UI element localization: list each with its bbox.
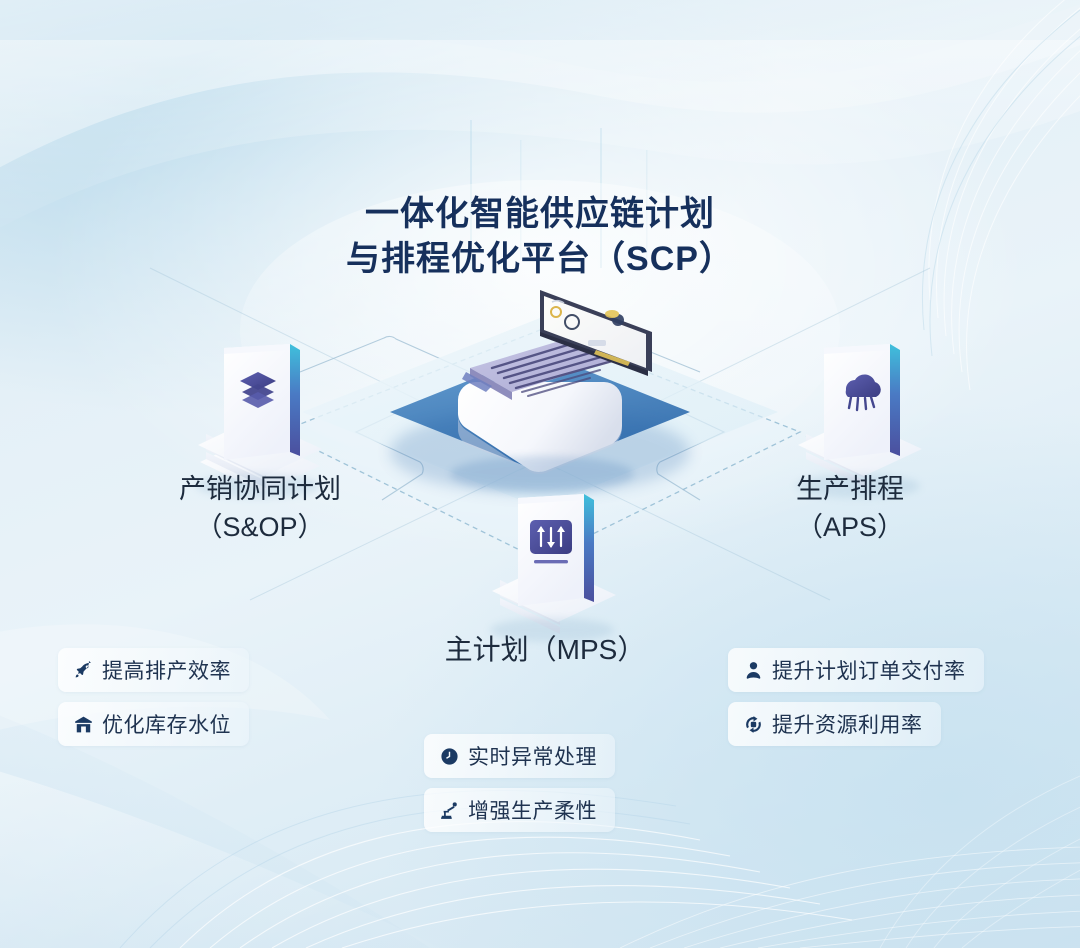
rocket-icon	[73, 660, 93, 680]
recycle-icon	[743, 714, 763, 734]
node-label-sop: 产销协同计划 （S&OP）	[100, 470, 420, 547]
feature-pill-improve-scheduling-efficiency[interactable]: 提高排产效率	[58, 648, 249, 692]
node-mps	[490, 494, 616, 642]
feature-pill-label: 增强生产柔性	[468, 795, 597, 825]
feature-pill-label: 提升计划订单交付率	[772, 655, 966, 685]
feature-pill-realtime-exception-handling[interactable]: 实时异常处理	[424, 734, 615, 778]
feature-pill-enhance-production-flexibility[interactable]: 增强生产柔性	[424, 788, 615, 832]
node-label-aps: 生产排程 （APS）	[720, 470, 980, 547]
clock-icon	[439, 746, 459, 766]
feature-pill-label: 优化库存水位	[102, 709, 231, 739]
center-device-laptop	[450, 290, 652, 492]
node-label-mps: 主计划（MPS）	[400, 630, 690, 670]
robot-arm-icon	[439, 800, 459, 820]
feature-pill-label: 提升资源利用率	[772, 709, 923, 739]
page-title: 一体化智能供应链计划 与排程优化平台（SCP）	[0, 192, 1080, 282]
warehouse-icon	[73, 714, 93, 734]
user-check-icon	[743, 660, 763, 680]
feature-pill-improve-resource-utilization[interactable]: 提升资源利用率	[728, 702, 941, 746]
feature-pill-label: 提高排产效率	[102, 655, 231, 685]
infographic-canvas: 一体化智能供应链计划 与排程优化平台（SCP）	[0, 0, 1080, 948]
feature-pill-optimize-inventory-level[interactable]: 优化库存水位	[58, 702, 249, 746]
feature-pill-label: 实时异常处理	[468, 741, 597, 771]
feature-pill-improve-order-delivery-rate[interactable]: 提升计划订单交付率	[728, 648, 984, 692]
connection-diamond	[150, 268, 930, 604]
